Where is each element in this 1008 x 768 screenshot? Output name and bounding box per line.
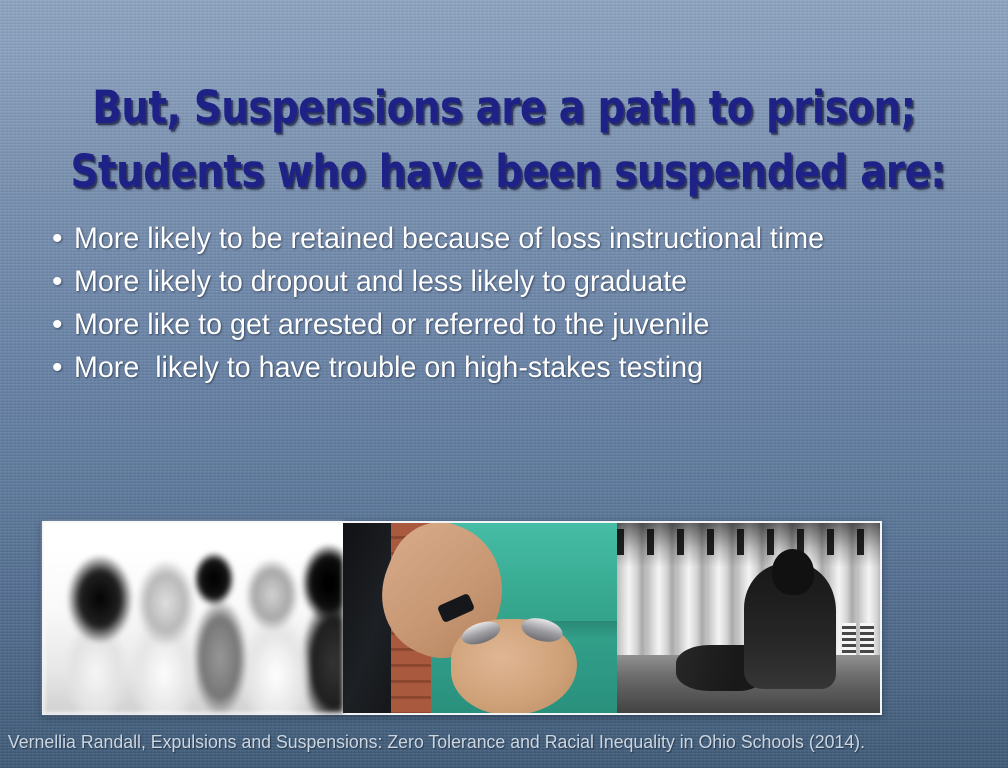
- source-citation: Vernellia Randall, Expulsions and Suspen…: [0, 731, 865, 753]
- bullet-point-icon: •: [44, 218, 74, 260]
- officer-sleeve-region: [343, 523, 391, 713]
- footer-bar: Vernellia Randall, Expulsions and Suspen…: [0, 716, 1008, 768]
- bullet-item-label: More likely to have trouble on high-stak…: [74, 347, 934, 389]
- bullet-item-label: More likely to dropout and less likely t…: [74, 261, 934, 303]
- student-at-lockers-photo: [617, 523, 880, 713]
- bullet-item-label: More like to get arrested or referred to…: [74, 304, 934, 346]
- locker-latch-region: [860, 623, 874, 657]
- slide-title: But, Suspensions are a path to prison; S…: [0, 76, 1008, 204]
- students-hallway-photo: [44, 523, 343, 713]
- presentation-slide: But, Suspensions are a path to prison; S…: [0, 0, 1008, 768]
- bullet-list: • More likely to be retained because of …: [44, 218, 974, 390]
- photo-strip: [42, 521, 882, 715]
- bullet-point-icon: •: [44, 261, 74, 303]
- student-head-region: [772, 549, 814, 595]
- locker-latch-region: [842, 623, 856, 657]
- list-item: • More like to get arrested or referred …: [44, 304, 974, 346]
- bullet-item-label: More likely to be retained because of lo…: [74, 218, 934, 260]
- handcuffed-person-photo: [343, 523, 617, 713]
- bullet-point-icon: •: [44, 347, 74, 389]
- slide-title-line-1: But, Suspensions are a path to prison;: [71, 76, 938, 140]
- list-item: • More likely to dropout and less likely…: [44, 261, 974, 303]
- slide-title-line-2: Students who have been suspended are:: [71, 140, 938, 204]
- list-item: • More likely to be retained because of …: [44, 218, 974, 260]
- list-item: • More likely to have trouble on high-st…: [44, 347, 974, 389]
- bullet-point-icon: •: [44, 304, 74, 346]
- locker-vents-region: [617, 529, 880, 555]
